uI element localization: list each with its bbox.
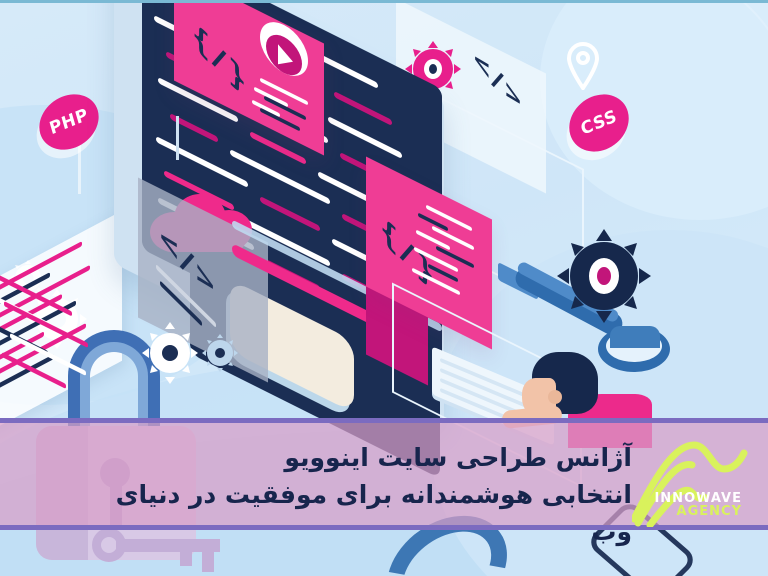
banner-image-canvas: PHP CSS </>: [0, 0, 768, 576]
logo-wordmark: INNOWAVE AGENCY: [654, 492, 742, 519]
php-bubble-label: PHP: [47, 105, 90, 140]
location-pin-icon: [566, 42, 600, 90]
logo-name: INNOWAVE: [654, 492, 742, 506]
video-card-code-label: {/}: [192, 14, 246, 103]
headline-banner: آژانس طراحی سایت اینوویو انتخابی هوشمندا…: [0, 418, 768, 530]
headline-line-2: انتخابی هوشمندانه برای موفقیت در دنیای و…: [112, 476, 632, 550]
headline-line-1: آژانس طراحی سایت اینوویو: [112, 439, 632, 476]
top-border-rule: [0, 0, 768, 3]
video-card-stem: [176, 116, 179, 160]
innowave-logo[interactable]: INNOWAVE AGENCY: [632, 435, 756, 527]
headline-text-block: آژانس طراحی سایت اینوویو انتخابی هوشمندا…: [112, 439, 632, 550]
php-bubble-stem: [78, 140, 81, 194]
logo-tagline: AGENCY: [654, 505, 742, 519]
gear-icon: [138, 318, 248, 388]
css-bubble-label: CSS: [579, 106, 620, 140]
gear-icon: [556, 228, 652, 324]
